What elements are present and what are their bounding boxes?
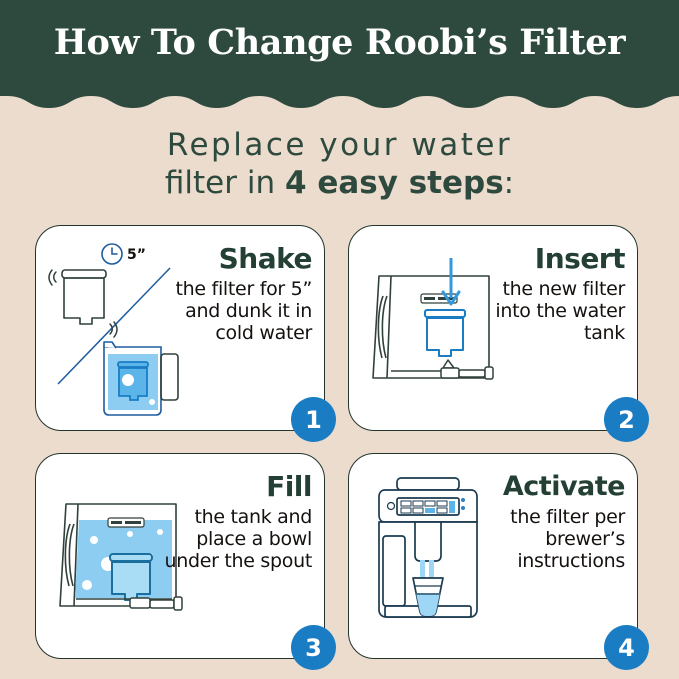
step-1-heading: Shake (174, 244, 312, 274)
step-2-body: the new filter into the water tank (479, 278, 625, 344)
step-1-text: Shake the filter for 5” and dunk it in c… (174, 244, 312, 344)
step-1-number-badge: 1 (291, 397, 336, 442)
step-1-illustration: 5” (42, 232, 194, 424)
step-card-1[interactable]: 5” (35, 225, 325, 431)
step-4-text: Activate the filter per brewer’s instruc… (473, 472, 625, 572)
step-3-number-badge: 3 (291, 625, 336, 670)
infographic-page: How To Change Roobi’s Filter Replace you… (0, 0, 679, 679)
step-3-heading: Fill (162, 472, 312, 502)
step-2-heading: Insert (479, 244, 625, 274)
timer-label: 5” (127, 247, 146, 263)
step-3-body: the tank and place a bowl under the spou… (162, 506, 312, 572)
step-4-body: the filter per brewer’s instructions (473, 506, 625, 572)
header-banner: How To Change Roobi’s Filter (0, 0, 679, 112)
subtitle-prefix: filter in (165, 165, 285, 201)
subtitle-suffix: : (504, 165, 514, 201)
steps-grid: 5” (35, 225, 646, 659)
subtitle-line-1: Replace your water (0, 126, 679, 164)
step-3-text: Fill the tank and place a bowl under the… (162, 472, 312, 572)
step-4-number-badge: 4 (604, 625, 649, 670)
step-card-3[interactable]: Fill the tank and place a bowl under the… (35, 453, 325, 659)
subtitle-line-2: filter in 4 easy steps: (0, 164, 679, 202)
step-card-4[interactable]: Activate the filter per brewer’s instruc… (348, 453, 638, 659)
step-2-number-badge: 2 (604, 397, 649, 442)
filter-shake-and-dunk-icon: 5” (42, 232, 194, 424)
page-title: How To Change Roobi’s Filter (0, 22, 679, 63)
subtitle: Replace your water filter in 4 easy step… (0, 126, 679, 202)
step-card-2[interactable]: Insert the new filter into the water tan… (348, 225, 638, 431)
step-4-heading: Activate (473, 472, 625, 502)
step-1-body: the filter for 5” and dunk it in cold wa… (174, 278, 312, 344)
subtitle-highlight: 4 easy steps (285, 165, 504, 201)
timer-clock-icon (102, 244, 122, 264)
step-2-text: Insert the new filter into the water tan… (479, 244, 625, 344)
